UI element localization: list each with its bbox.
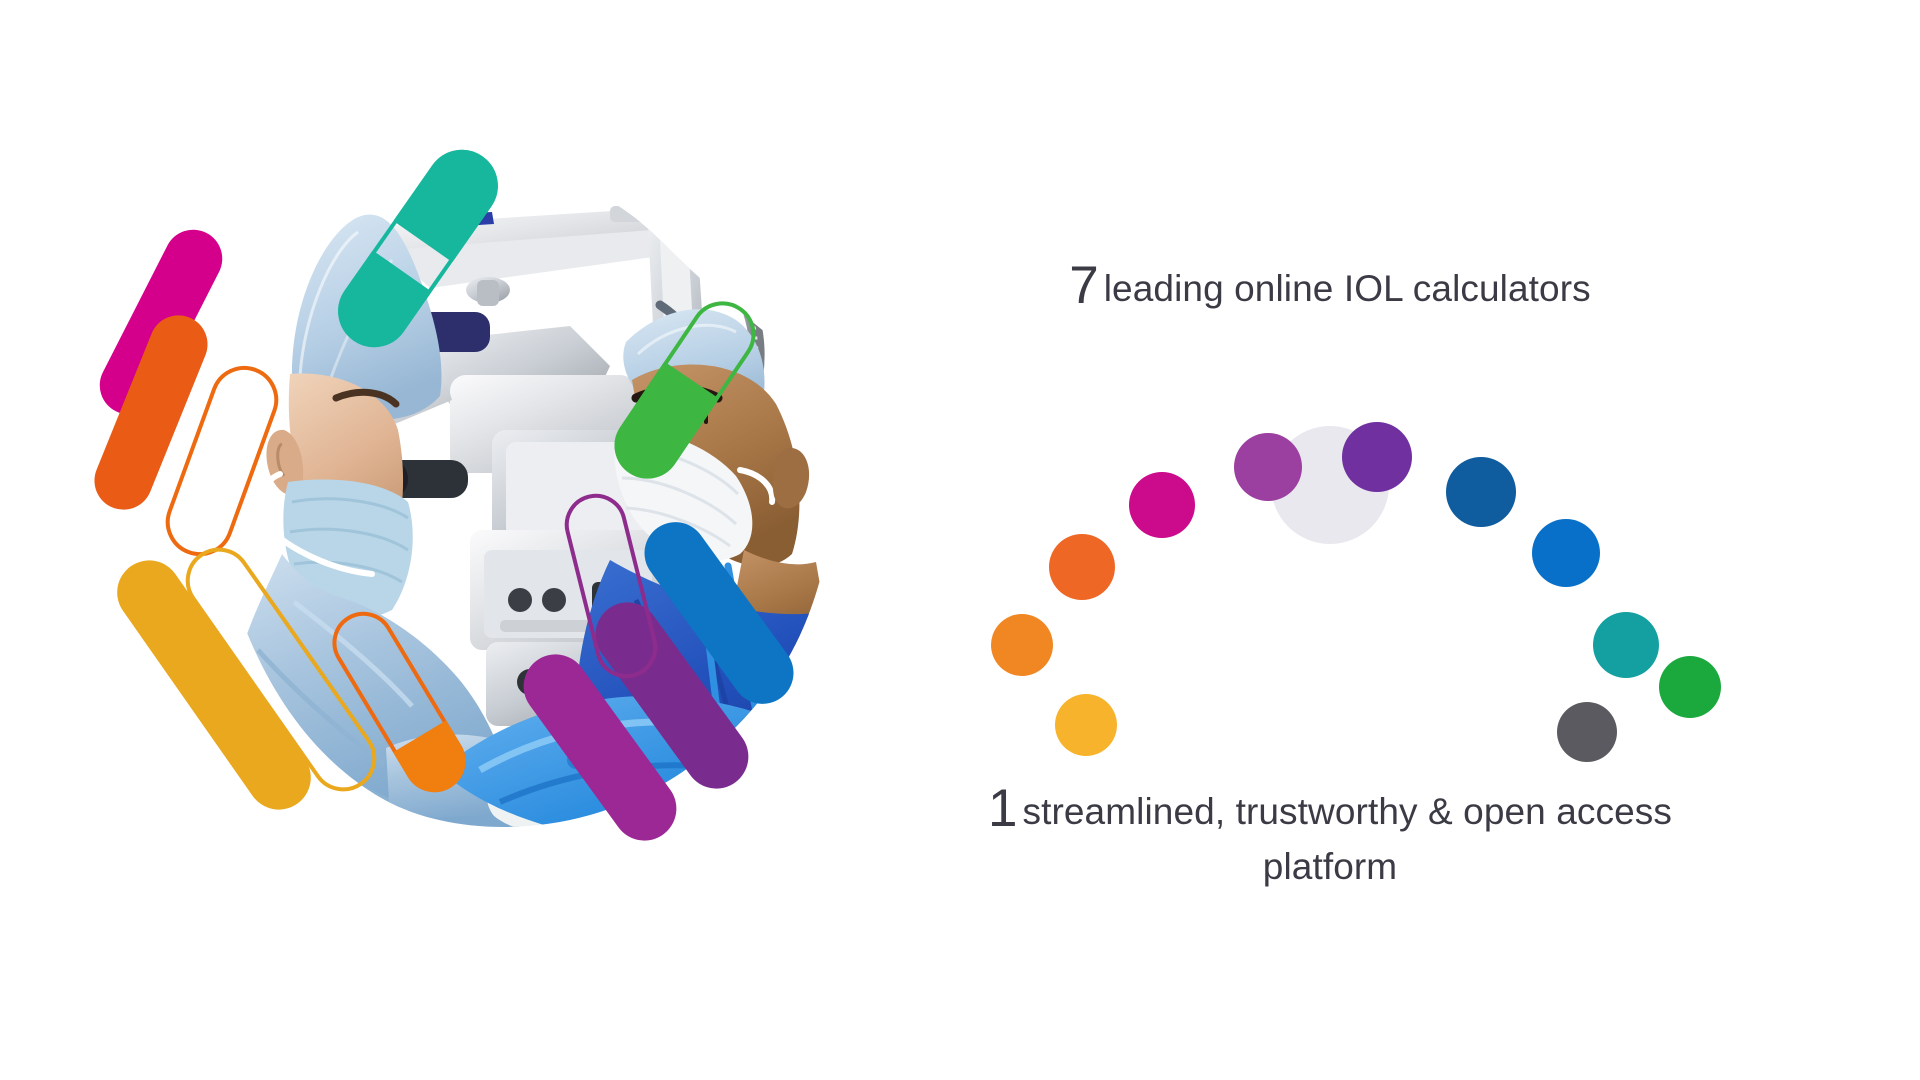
surgery-photo [140, 130, 960, 930]
dot-orange-light [991, 614, 1053, 676]
photo-collage [140, 130, 960, 930]
headline-calculators-text: leading online IOL calculators [1104, 268, 1591, 309]
headline-platform-text: streamlined, trustworthy & open access p… [1022, 791, 1672, 887]
dot-arc-graphic [980, 400, 1680, 700]
headline-calculators-number: 7 [1069, 256, 1103, 315]
dot-green [1659, 656, 1721, 718]
dot-purple-dark [1342, 422, 1412, 492]
dot-orange-deep [1049, 534, 1115, 600]
headline-platform: 1streamlined, trustworthy & open access … [980, 775, 1680, 890]
right-content-panel: 7leading online IOL calculators 1streaml… [980, 0, 1740, 1080]
slide-canvas: 7leading online IOL calculators 1streaml… [0, 0, 1920, 1080]
dot-amber [1055, 694, 1117, 756]
dot-purple-light [1234, 433, 1302, 501]
dot-blue-bright [1532, 519, 1600, 587]
dot-magenta [1129, 472, 1195, 538]
dot-blue-dark [1446, 457, 1516, 527]
dot-gray [1557, 702, 1617, 762]
headline-calculators: 7leading online IOL calculators [980, 252, 1680, 320]
headline-platform-number: 1 [988, 779, 1022, 838]
dot-teal [1593, 612, 1659, 678]
